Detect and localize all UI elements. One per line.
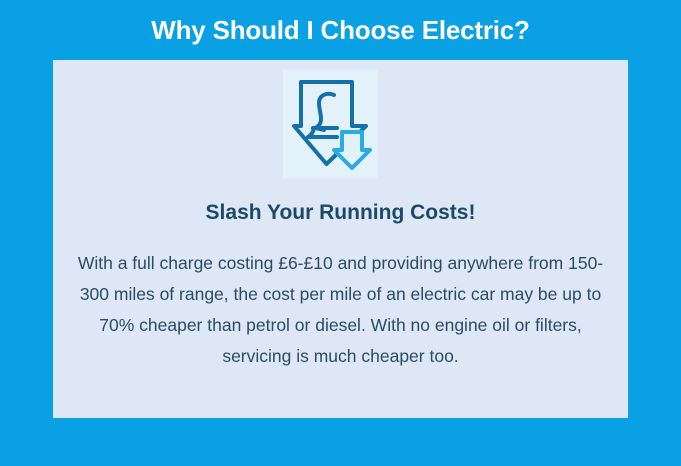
card-body-text: With a full charge costing £6-£10 and pr… — [75, 248, 606, 372]
card-heading: Slash Your Running Costs! — [53, 200, 628, 226]
benefit-card: Slash Your Running Costs! With a full ch… — [53, 60, 628, 418]
page-title: Why Should I Choose Electric? — [0, 14, 681, 46]
pound-cost-down-arrow-icon — [283, 70, 378, 178]
promo-panel: Why Should I Choose Electric? — [0, 0, 681, 466]
